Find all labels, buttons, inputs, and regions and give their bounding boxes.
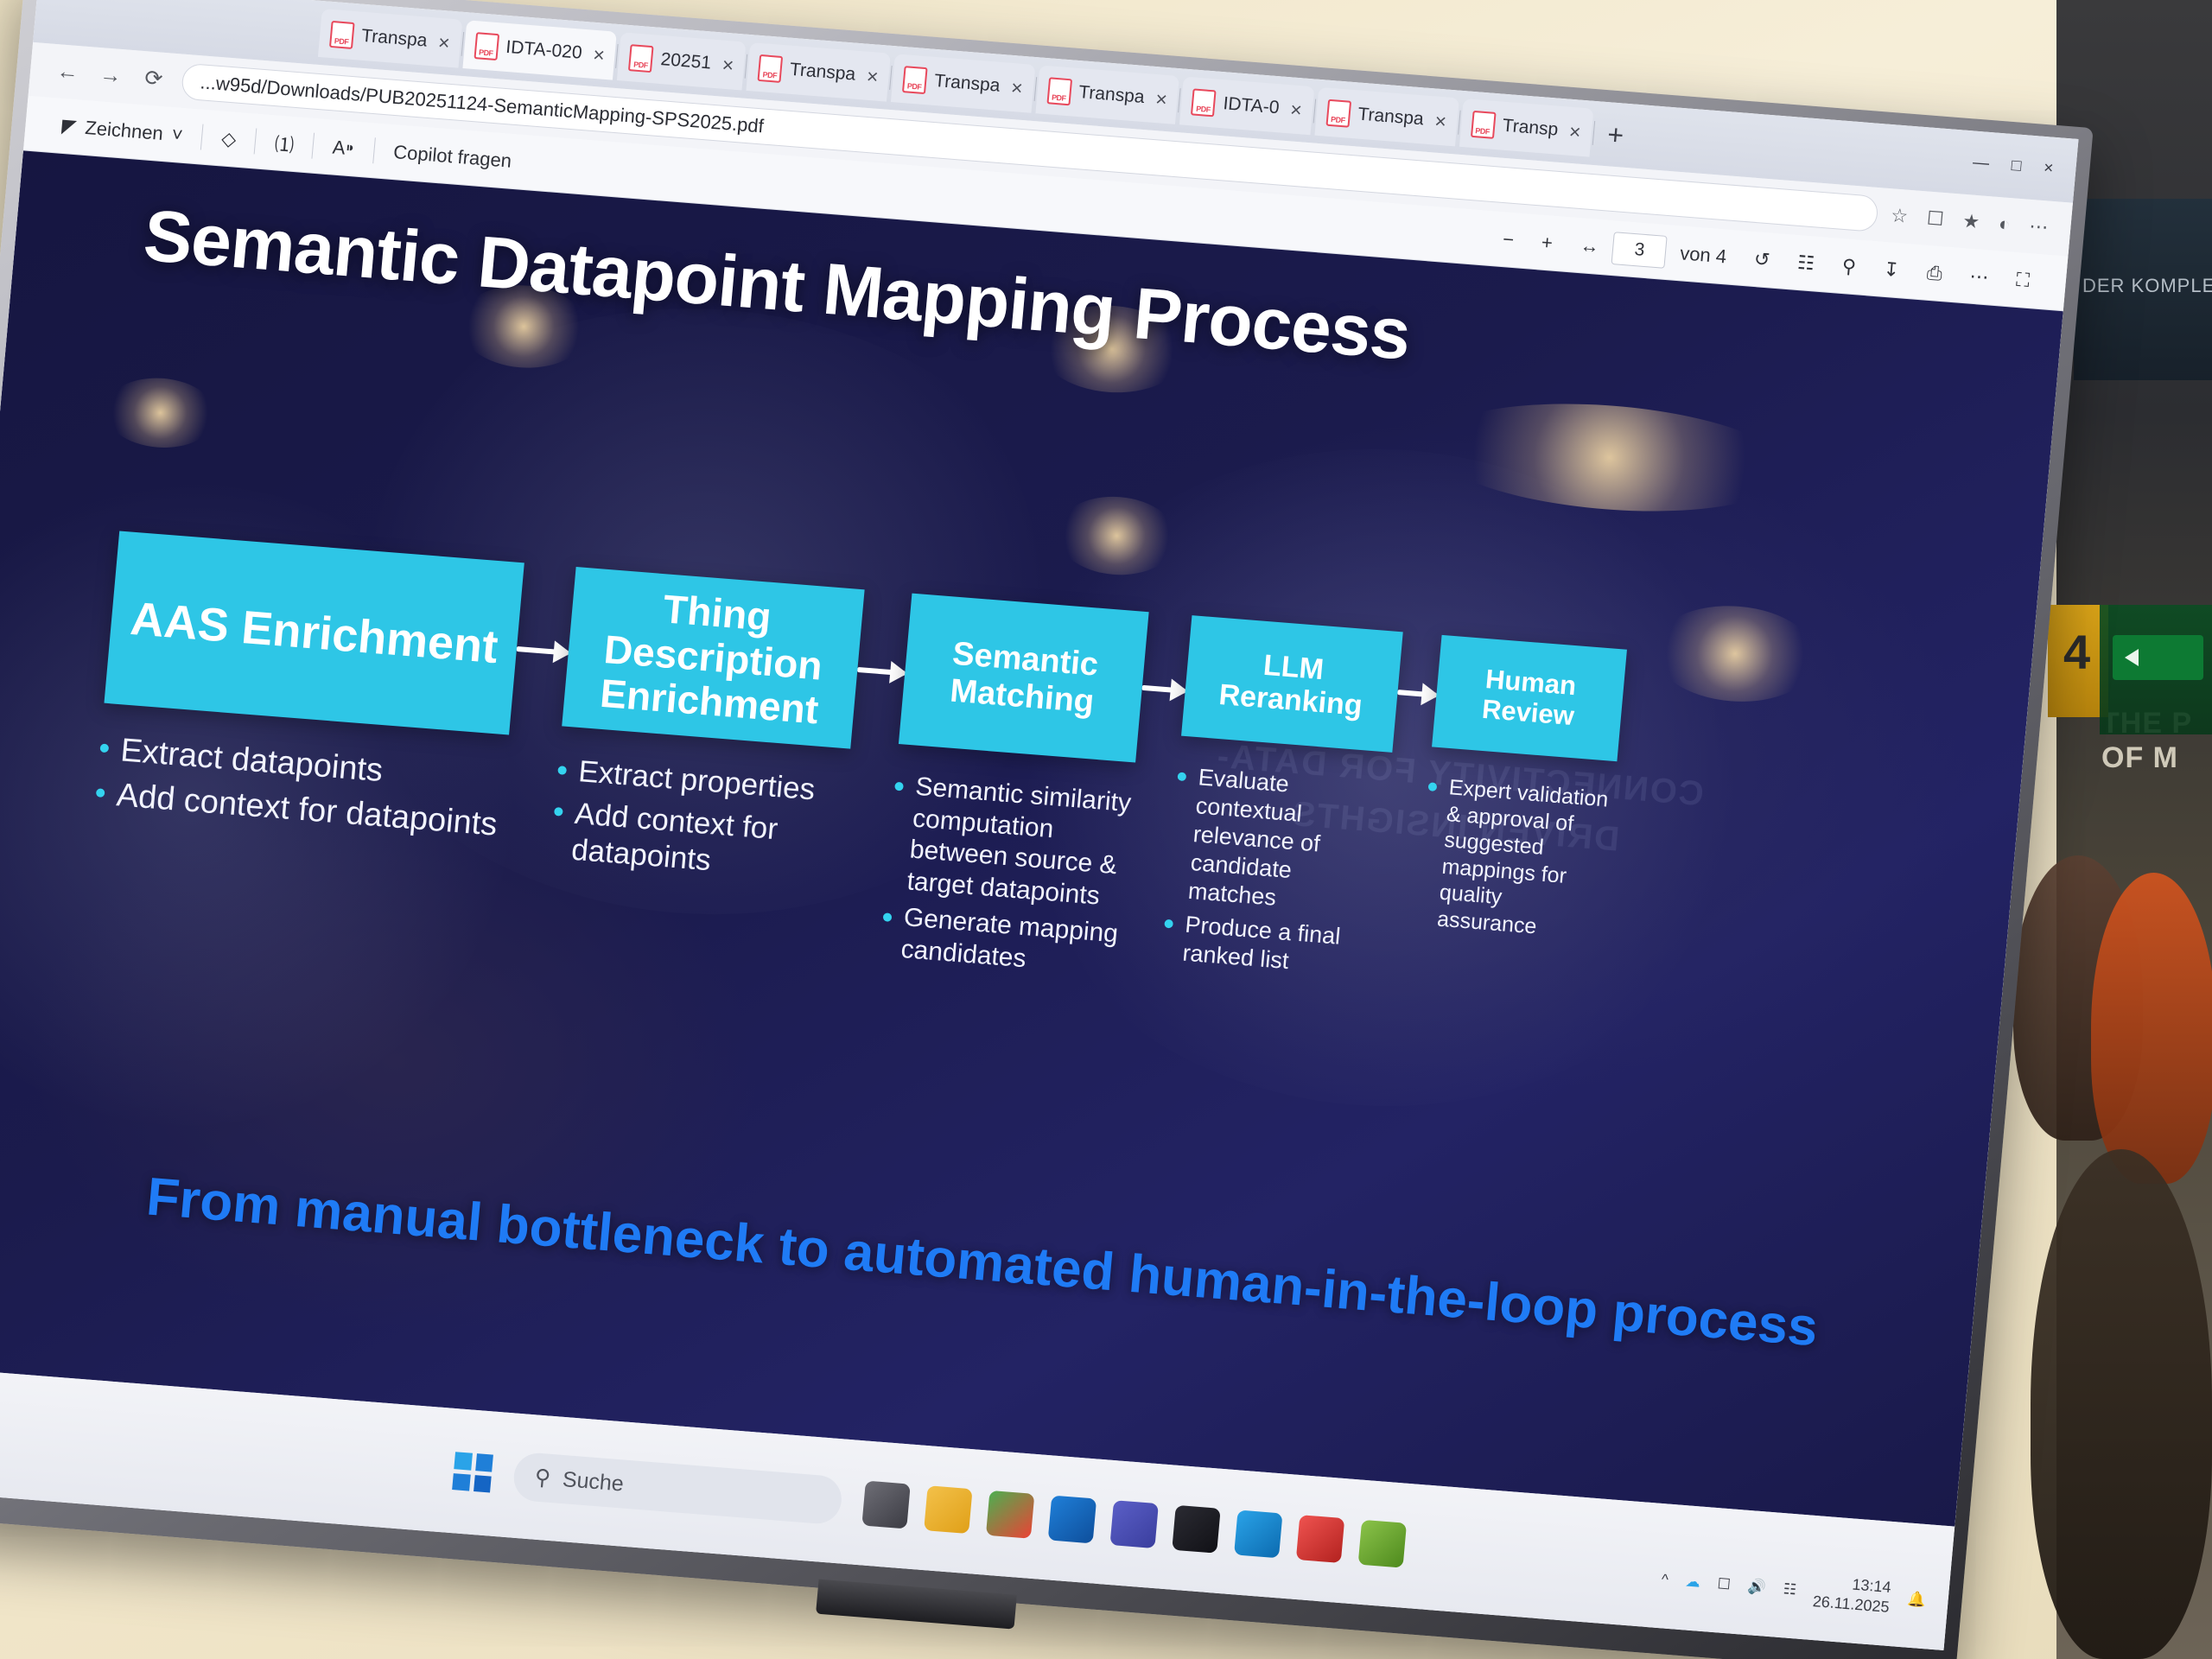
bullet-item: Add context for datapoints bbox=[550, 794, 845, 890]
network-icon[interactable]: ☐ bbox=[1717, 1575, 1732, 1593]
tab-close-icon[interactable]: × bbox=[592, 42, 606, 67]
browser-tab[interactable]: Transpa× bbox=[891, 54, 1035, 113]
zoom-out-button[interactable]: − bbox=[1488, 226, 1529, 251]
bullet-dot-icon bbox=[1177, 772, 1186, 782]
fit-page-icon[interactable]: ↔ bbox=[1566, 232, 1614, 258]
bullet-dot-icon bbox=[557, 766, 567, 775]
browser-tab[interactable]: Transpa× bbox=[318, 9, 462, 68]
notification-bell-icon[interactable]: 🔔 bbox=[1907, 1590, 1927, 1609]
terminal-icon[interactable] bbox=[1172, 1505, 1220, 1554]
pdf-file-icon bbox=[1046, 77, 1072, 105]
maximize-button[interactable]: □ bbox=[2011, 156, 2022, 176]
favorites-icon[interactable]: ★ bbox=[1961, 210, 1980, 233]
process-flow-diagram: AAS EnrichmentExtract datapointsAdd cont… bbox=[86, 531, 1945, 1050]
process-step-title: LLM Reranking bbox=[1196, 644, 1389, 724]
process-step-box: AAS Enrichment bbox=[104, 531, 524, 734]
bullet-item: Semantic similarity computation between … bbox=[885, 770, 1133, 914]
bullet-item: Produce a final ranked list bbox=[1160, 909, 1376, 982]
monitor-screen: Transpa×IDTA-020×20251×Transpa×Transpa×T… bbox=[0, 0, 2079, 1650]
slide-tagline: From manual bottleneck to automated huma… bbox=[144, 1166, 1829, 1359]
edge-icon[interactable] bbox=[1234, 1510, 1282, 1558]
fullscreen-icon[interactable]: ⛶ bbox=[2001, 267, 2044, 293]
browser-tab[interactable]: IDTA-020× bbox=[462, 20, 617, 79]
collections-icon[interactable]: ☐ bbox=[1926, 207, 1945, 231]
tab-close-icon[interactable]: × bbox=[1010, 75, 1024, 99]
tab-close-icon[interactable]: × bbox=[721, 53, 735, 77]
system-tray: ^ ☁ ☐ 🔊 ☷ 13:14 26.11.2025 🔔 bbox=[1660, 1560, 1928, 1619]
booth-sign-3: OF M bbox=[2101, 741, 2178, 775]
exit-arrow-icon bbox=[2113, 635, 2203, 680]
pdf-file-icon bbox=[902, 66, 928, 94]
process-step-title: Thing Description Enrichment bbox=[575, 581, 852, 734]
browser-tab[interactable]: Transpa× bbox=[747, 42, 891, 102]
pdf-file-icon bbox=[329, 20, 355, 48]
browser-tab-label: 20251 bbox=[660, 49, 712, 73]
back-arrow-icon[interactable]: ← bbox=[52, 58, 83, 86]
browser-tab[interactable]: IDTA-0× bbox=[1179, 77, 1314, 136]
booth-sign-1: DER KOMPLE bbox=[2082, 275, 2212, 297]
window-controls: — □ × bbox=[1972, 154, 2076, 181]
draw-label: Zeichnen bbox=[84, 116, 164, 144]
browser-tab-label: Transpa bbox=[1357, 105, 1425, 130]
tray-clock[interactable]: 13:14 26.11.2025 bbox=[1812, 1572, 1891, 1617]
task-view-icon[interactable] bbox=[861, 1481, 910, 1529]
pdf-app-icon[interactable] bbox=[1296, 1515, 1344, 1563]
save-icon[interactable]: ↧ bbox=[1869, 257, 1915, 283]
file-explorer-icon[interactable] bbox=[924, 1485, 972, 1534]
folder-app-icon[interactable] bbox=[1358, 1520, 1407, 1568]
process-step: Semantic MatchingSemantic similarity com… bbox=[879, 594, 1149, 988]
chrome-icon[interactable] bbox=[986, 1491, 1034, 1539]
chevron-down-icon[interactable]: ˅ bbox=[171, 123, 184, 146]
toolbar-divider bbox=[254, 128, 257, 154]
browser-window: Transpa×IDTA-020×20251×Transpa×Transpa×T… bbox=[0, 0, 2079, 1650]
bullet-text: Semantic similarity computation between … bbox=[906, 772, 1133, 914]
process-step: LLM RerankingEvaluate contextual relevan… bbox=[1160, 615, 1403, 987]
toolbar-divider bbox=[200, 124, 204, 149]
zoom-in-button[interactable]: + bbox=[1527, 230, 1567, 255]
bullet-text: Generate mapping candidates bbox=[899, 903, 1122, 983]
pdf-file-icon bbox=[628, 44, 654, 73]
process-step-bullets: Expert validation & approval of suggeste… bbox=[1415, 772, 1615, 944]
pdf-file-icon bbox=[1325, 99, 1351, 127]
more-options-icon[interactable]: ⋯ bbox=[1955, 264, 2003, 289]
booth-number: 4 bbox=[2063, 624, 2090, 680]
eraser-icon[interactable]: ◇ bbox=[207, 126, 251, 152]
browser-tab[interactable]: Transpa× bbox=[1035, 65, 1179, 124]
bookmark-star-icon[interactable]: ☆ bbox=[1890, 204, 1909, 227]
process-step: Human ReviewExpert validation & approval… bbox=[1415, 635, 1627, 950]
app-store-icon[interactable] bbox=[1048, 1496, 1096, 1544]
volume-icon[interactable]: 🔊 bbox=[1747, 1578, 1767, 1597]
browser-tab-label: IDTA-020 bbox=[505, 37, 582, 64]
light-glare bbox=[101, 374, 219, 452]
tab-close-icon[interactable]: × bbox=[866, 64, 880, 88]
pdf-file-icon bbox=[758, 54, 784, 82]
bullet-dot-icon bbox=[554, 807, 563, 817]
search-icon[interactable]: ⚲ bbox=[1827, 253, 1871, 279]
crowd-person bbox=[2031, 1149, 2212, 1659]
taskbar-search-input[interactable]: ⚲ Suche bbox=[512, 1452, 843, 1526]
tab-close-icon[interactable]: × bbox=[1289, 98, 1303, 122]
toolbar-divider bbox=[372, 137, 376, 163]
browser-tab-label: Transpa bbox=[360, 26, 428, 52]
new-tab-button[interactable]: + bbox=[1594, 118, 1637, 153]
print-icon[interactable]: ⎙ bbox=[1912, 260, 1957, 286]
page-number-input[interactable]: 3 bbox=[1611, 232, 1668, 269]
page-count-label: von 4 bbox=[1665, 241, 1741, 270]
light-glare bbox=[1424, 391, 1795, 523]
close-window-button[interactable]: × bbox=[2043, 159, 2054, 179]
settings-ellipsis-icon[interactable]: ⋯ bbox=[2028, 215, 2049, 239]
bullet-dot-icon bbox=[1164, 919, 1173, 929]
flow-arrow-icon bbox=[1397, 690, 1436, 698]
browser-tab-label: IDTA-0 bbox=[1223, 93, 1281, 118]
browser-essentials-icon[interactable]: ◐ bbox=[1998, 213, 2012, 236]
bullet-dot-icon bbox=[96, 789, 105, 798]
windows-start-icon[interactable] bbox=[452, 1452, 493, 1492]
show-hidden-icons-chevron[interactable]: ^ bbox=[1661, 1571, 1669, 1589]
read-aloud-icon[interactable]: A⁍ bbox=[318, 135, 370, 161]
reload-icon[interactable]: ⟳ bbox=[138, 65, 170, 93]
browser-tab-label: Transpa bbox=[933, 71, 1001, 97]
flow-arrow-icon bbox=[1142, 684, 1185, 693]
pdf-file-icon bbox=[1470, 110, 1496, 138]
browser-tab-label: Transp bbox=[1502, 116, 1560, 141]
browser-tab[interactable]: 20251× bbox=[617, 32, 746, 90]
process-step-bullets: Semantic similarity computation between … bbox=[879, 770, 1133, 982]
process-step-box: Thing Description Enrichment bbox=[562, 567, 864, 749]
pdf-file-icon bbox=[1191, 88, 1217, 117]
pdf-slide-page: CONNECTIVITY FOR DATA-DRIVEN INSIGHTS Se… bbox=[0, 150, 2063, 1526]
bullet-item: Generate mapping candidates bbox=[879, 901, 1122, 982]
bullet-text: Add context for datapoints bbox=[570, 796, 845, 890]
pdf-file-icon bbox=[474, 32, 499, 60]
flow-arrow-icon bbox=[517, 646, 569, 656]
bullet-item: Evaluate contextual relevance of candida… bbox=[1166, 761, 1390, 919]
browser-tab-label: Transpa bbox=[789, 60, 856, 86]
crowd-person bbox=[2091, 873, 2212, 1184]
process-step-title: AAS Enrichment bbox=[129, 593, 500, 674]
process-step-bullets: Extract propertiesAdd context for datapo… bbox=[550, 752, 849, 890]
process-step-title: Semantic Matching bbox=[914, 633, 1134, 723]
process-step-box: Semantic Matching bbox=[899, 594, 1149, 763]
process-step-bullets: Extract datapointsAdd context for datapo… bbox=[94, 729, 506, 846]
bullet-dot-icon bbox=[99, 744, 109, 753]
pen-icon: ◤ bbox=[61, 114, 78, 137]
copilot-button[interactable]: Copilot fragen bbox=[378, 139, 526, 173]
teams-icon[interactable] bbox=[1109, 1500, 1158, 1548]
bullet-item: Expert validation & approval of suggeste… bbox=[1415, 772, 1615, 944]
bullet-text: Evaluate contextual relevance of candida… bbox=[1187, 763, 1390, 919]
minimize-button[interactable]: — bbox=[1972, 154, 1990, 174]
forward-arrow-icon[interactable]: → bbox=[95, 61, 126, 89]
page-layout-icon[interactable]: ☷ bbox=[1783, 250, 1829, 276]
bullet-dot-icon bbox=[1427, 782, 1437, 791]
onedrive-icon[interactable]: ☁ bbox=[1685, 1573, 1701, 1591]
browser-tab[interactable]: Transpa× bbox=[1314, 87, 1459, 147]
browser-tab[interactable]: Transp× bbox=[1459, 99, 1593, 157]
light-glare bbox=[1053, 493, 1181, 580]
bullet-text: Expert validation & approval of suggeste… bbox=[1436, 774, 1615, 944]
camera-icon[interactable]: ☷ bbox=[1783, 1580, 1797, 1599]
bullet-dot-icon bbox=[883, 912, 893, 922]
bullet-dot-icon bbox=[894, 781, 904, 791]
tab-close-icon[interactable]: × bbox=[437, 30, 451, 54]
process-step-box: LLM Reranking bbox=[1181, 615, 1403, 753]
process-step: AAS EnrichmentExtract datapointsAdd cont… bbox=[93, 531, 524, 850]
search-icon: ⚲ bbox=[533, 1465, 551, 1491]
display-monitor: Transpa×IDTA-020×20251×Transpa×Transpa×T… bbox=[0, 0, 2094, 1659]
process-step-bullets: Evaluate contextual relevance of candida… bbox=[1160, 761, 1389, 982]
rotate-icon[interactable]: ↺ bbox=[1739, 246, 1785, 272]
add-text-icon[interactable]: ⑴ bbox=[260, 128, 309, 159]
search-placeholder: Suche bbox=[562, 1467, 625, 1497]
process-step-box: Human Review bbox=[1432, 635, 1627, 761]
address-bar-actions: ☆ ☐ ★ ◐ ⋯ bbox=[1890, 204, 2049, 238]
tab-close-icon[interactable]: × bbox=[1154, 87, 1168, 111]
bullet-text: Produce a final ranked list bbox=[1181, 910, 1376, 982]
process-step: Thing Description EnrichmentExtract prop… bbox=[549, 567, 865, 895]
tab-close-icon[interactable]: × bbox=[1568, 119, 1582, 143]
process-step-title: Human Review bbox=[1446, 662, 1613, 734]
browser-tab-label: Transpa bbox=[1077, 82, 1145, 108]
draw-tool-button[interactable]: ◤ Zeichnen ˅ bbox=[48, 113, 198, 147]
toolbar-divider bbox=[312, 132, 315, 158]
flow-arrow-icon bbox=[857, 666, 905, 675]
tab-close-icon[interactable]: × bbox=[1433, 109, 1447, 133]
